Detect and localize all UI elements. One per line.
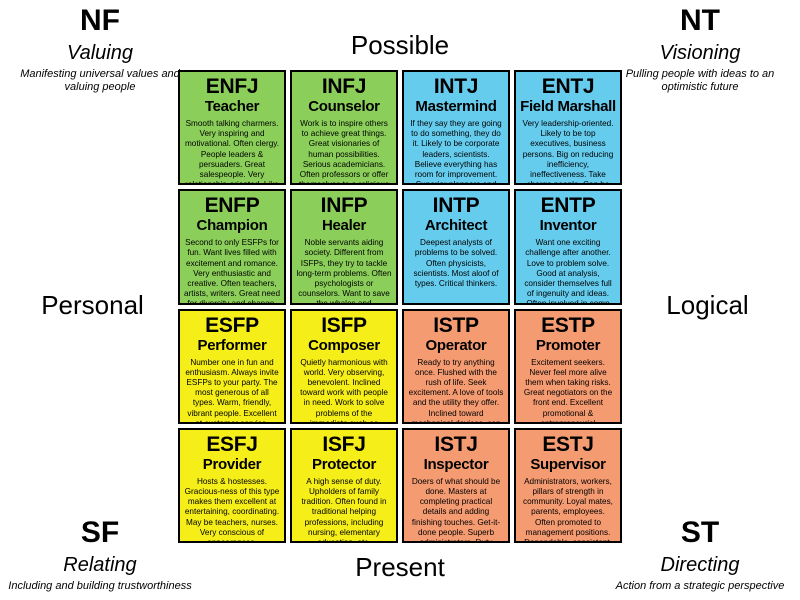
corner-word-st: Directing bbox=[600, 552, 800, 578]
type-description: Administrators, workers, pillars of stre… bbox=[519, 477, 617, 543]
type-code: ENFP bbox=[183, 193, 281, 218]
corner-label-nt: NT Visioning Pulling people with ideas t… bbox=[600, 4, 800, 94]
corner-label-st: ST Directing Action from a strategic per… bbox=[600, 516, 800, 593]
type-description: Noble servants aiding society. Different… bbox=[295, 238, 393, 304]
type-role: Architect bbox=[407, 217, 505, 235]
type-description: Want one exciting challenge after anothe… bbox=[519, 238, 617, 304]
type-role: Champion bbox=[183, 217, 281, 235]
type-description: A high sense of duty. Upholders of famil… bbox=[295, 477, 393, 543]
type-role: Composer bbox=[295, 337, 393, 355]
axis-label-left: Personal bbox=[10, 290, 175, 320]
type-description: Second to only ESFPs for fun. Want lives… bbox=[183, 238, 281, 304]
type-cell[interactable]: ENTPInventorWant one exciting challenge … bbox=[514, 189, 622, 304]
type-code: ISFJ bbox=[295, 432, 393, 457]
type-cell[interactable]: INTJMastermindIf they say they are going… bbox=[402, 70, 510, 185]
type-cell[interactable]: ENFJTeacherSmooth talking charmers. Very… bbox=[178, 70, 286, 185]
type-description: Quietly harmonious with world. Very obse… bbox=[295, 358, 393, 424]
type-grid: ENFJTeacherSmooth talking charmers. Very… bbox=[178, 70, 622, 543]
type-role: Provider bbox=[183, 456, 281, 474]
type-cell[interactable]: INFPHealerNoble servants aiding society.… bbox=[290, 189, 398, 304]
type-role: Inventor bbox=[519, 217, 617, 235]
corner-code-nt: NT bbox=[600, 4, 800, 38]
type-code: ISTJ bbox=[407, 432, 505, 457]
corner-label-nf: NF Valuing Manifesting universal values … bbox=[0, 4, 200, 94]
corner-desc-nt: Pulling people with ideas to an optimist… bbox=[600, 68, 800, 94]
corner-label-sf: SF Relating Including and building trust… bbox=[0, 516, 200, 593]
type-code: ISFP bbox=[295, 313, 393, 338]
type-role: Promoter bbox=[519, 337, 617, 355]
type-description: Number one in fun and enthusiasm. Always… bbox=[183, 358, 281, 424]
mbti-type-chart: NF Valuing Manifesting universal values … bbox=[0, 0, 800, 600]
type-code: INFJ bbox=[295, 74, 393, 99]
corner-desc-sf: Including and building trustworthiness bbox=[0, 580, 200, 593]
type-description: Excitement seekers. Never feel more aliv… bbox=[519, 358, 617, 424]
type-role: Teacher bbox=[183, 98, 281, 116]
type-role: Protector bbox=[295, 456, 393, 474]
type-cell[interactable]: INFJCounselorWork is to inspire others t… bbox=[290, 70, 398, 185]
type-cell[interactable]: ISFJProtectorA high sense of duty. Uphol… bbox=[290, 428, 398, 543]
type-description: Doers of what should be done. Masters at… bbox=[407, 477, 505, 543]
type-role: Counselor bbox=[295, 98, 393, 116]
type-cell[interactable]: ESFPPerformerNumber one in fun and enthu… bbox=[178, 309, 286, 424]
axis-label-bottom: Present bbox=[200, 552, 600, 582]
corner-code-nf: NF bbox=[0, 4, 200, 38]
type-code: ESFJ bbox=[183, 432, 281, 457]
corner-code-sf: SF bbox=[0, 516, 200, 550]
type-code: ESTP bbox=[519, 313, 617, 338]
type-cell[interactable]: INTPArchitectDeepest analysts of problem… bbox=[402, 189, 510, 304]
type-role: Operator bbox=[407, 337, 505, 355]
type-role: Healer bbox=[295, 217, 393, 235]
type-description: Deepest analysts of problems to be solve… bbox=[407, 238, 505, 289]
corner-desc-nf: Manifesting universal values and valuing… bbox=[0, 68, 200, 94]
type-cell[interactable]: ENFPChampionSecond to only ESFPs for fun… bbox=[178, 189, 286, 304]
type-cell[interactable]: ISTPOperatorReady to try anything once. … bbox=[402, 309, 510, 424]
type-description: Work is to inspire others to achieve gre… bbox=[295, 119, 393, 185]
type-code: INTJ bbox=[407, 74, 505, 99]
type-cell[interactable]: ESTJSupervisorAdministrators, workers, p… bbox=[514, 428, 622, 543]
type-code: ISTP bbox=[407, 313, 505, 338]
type-cell[interactable]: ESTPPromoterExcitement seekers. Never fe… bbox=[514, 309, 622, 424]
type-code: ENTJ bbox=[519, 74, 617, 99]
corner-word-nf: Valuing bbox=[0, 40, 200, 66]
type-description: If they say they are going to do somethi… bbox=[407, 119, 505, 185]
type-code: ESTJ bbox=[519, 432, 617, 457]
type-description: Hosts & hostesses. Gracious-ness of this… bbox=[183, 477, 281, 543]
axis-label-top: Possible bbox=[200, 30, 600, 60]
type-description: Ready to try anything once. Flushed with… bbox=[407, 358, 505, 424]
type-code: ENTP bbox=[519, 193, 617, 218]
type-description: Very leadership-oriented. Likely to be t… bbox=[519, 119, 617, 185]
type-role: Supervisor bbox=[519, 456, 617, 474]
type-role: Performer bbox=[183, 337, 281, 355]
type-cell[interactable]: ESFJProviderHosts & hostesses. Gracious-… bbox=[178, 428, 286, 543]
axis-label-right: Logical bbox=[625, 290, 790, 320]
corner-word-nt: Visioning bbox=[600, 40, 800, 66]
type-cell[interactable]: ISTJInspectorDoers of what should be don… bbox=[402, 428, 510, 543]
type-description: Smooth talking charmers. Very inspiring … bbox=[183, 119, 281, 185]
type-cell[interactable]: ISFPComposerQuietly harmonious with worl… bbox=[290, 309, 398, 424]
type-role: Inspector bbox=[407, 456, 505, 474]
type-code: ESFP bbox=[183, 313, 281, 338]
corner-code-st: ST bbox=[600, 516, 800, 550]
corner-desc-st: Action from a strategic perspective bbox=[600, 580, 800, 593]
type-role: Field Marshall bbox=[519, 98, 617, 116]
type-cell[interactable]: ENTJField MarshallVery leadership-orient… bbox=[514, 70, 622, 185]
corner-word-sf: Relating bbox=[0, 552, 200, 578]
type-code: INTP bbox=[407, 193, 505, 218]
type-code: ENFJ bbox=[183, 74, 281, 99]
type-code: INFP bbox=[295, 193, 393, 218]
type-role: Mastermind bbox=[407, 98, 505, 116]
